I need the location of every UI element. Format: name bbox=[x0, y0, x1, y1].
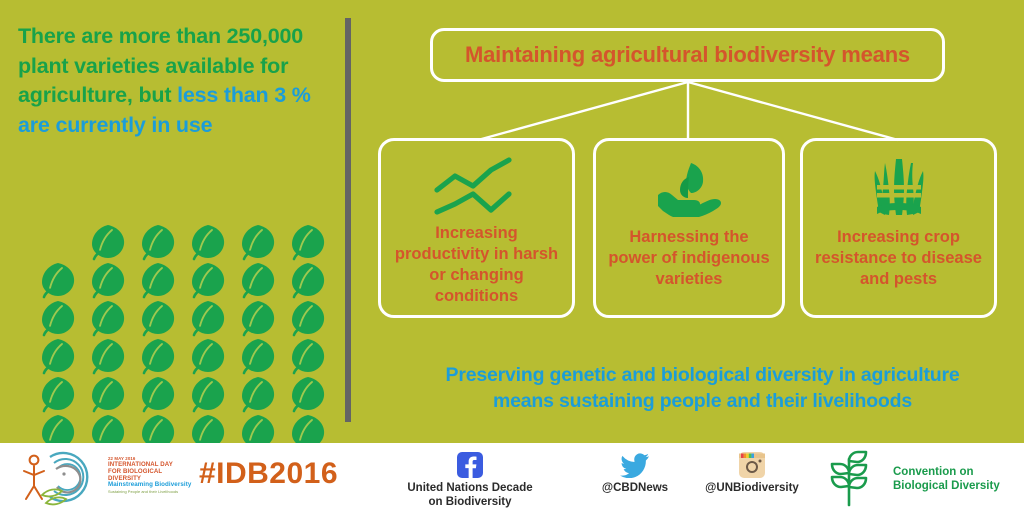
facebook-label: United Nations Decade on Biodiversity bbox=[407, 481, 532, 509]
leaf-icon bbox=[288, 260, 328, 300]
leaf-icon bbox=[138, 336, 178, 376]
leaf-icon bbox=[188, 336, 228, 376]
twitter-handle: @CBDNews bbox=[602, 481, 668, 495]
cbd-logo: Convention on Biological Diversity bbox=[815, 449, 1015, 507]
leaf-icon bbox=[288, 374, 328, 414]
instagram-label: @UNBiodiversity bbox=[705, 481, 799, 495]
leaf-icon bbox=[188, 374, 228, 414]
idb-emblem-icon bbox=[16, 447, 108, 509]
vertical-divider bbox=[345, 18, 351, 422]
idb-line-2: FOR BIOLOGICAL DIVERSITY bbox=[108, 469, 192, 483]
idb-line-3: Mainstreaming Biodiversity bbox=[108, 482, 192, 489]
leaf-icon bbox=[88, 260, 128, 300]
facebook-icon bbox=[457, 452, 483, 478]
hand-holding-seedling-icon bbox=[650, 155, 728, 217]
wheat-sheaf-icon bbox=[863, 155, 935, 217]
footer: 22 MAY 2016 INTERNATIONAL DAY FOR BIOLOG… bbox=[0, 443, 1024, 512]
leaf-icon bbox=[88, 298, 128, 338]
main-panel: There are more than 250,000 plant variet… bbox=[0, 0, 1024, 443]
cbd-line-1: Convention on bbox=[893, 465, 1000, 479]
leaf-icon bbox=[188, 298, 228, 338]
social-facebook[interactable]: United Nations Decade on Biodiversity bbox=[370, 452, 570, 509]
leaf-icon bbox=[238, 260, 278, 300]
instagram-handle: @UNBiodiversity bbox=[705, 481, 799, 495]
connector-lines bbox=[370, 80, 1020, 142]
idb-logo: 22 MAY 2016 INTERNATIONAL DAY FOR BIOLOG… bbox=[16, 447, 191, 509]
leaf-icon bbox=[38, 336, 78, 376]
card-indigenous-varieties[interactable]: Harnessing the power of indigenous varie… bbox=[593, 138, 785, 318]
leaf-icon bbox=[138, 374, 178, 414]
leaf-icon bbox=[38, 374, 78, 414]
headline: There are more than 250,000 plant variet… bbox=[18, 22, 338, 141]
twitter-label: @CBDNews bbox=[602, 481, 668, 495]
cbd-line-2: Biological Diversity bbox=[893, 479, 1000, 493]
leaf-icon bbox=[138, 222, 178, 262]
hashtag-idb2016: #IDB2016 bbox=[186, 457, 351, 491]
twitter-icon bbox=[620, 452, 650, 478]
leaf-icon bbox=[38, 298, 78, 338]
leaf-icon bbox=[238, 298, 278, 338]
leaf-icon bbox=[288, 298, 328, 338]
leaf-icon bbox=[88, 336, 128, 376]
leaf-icon bbox=[88, 374, 128, 414]
leaf-icon bbox=[38, 260, 78, 300]
tagline-line-2: means sustaining people and their liveli… bbox=[390, 388, 1015, 414]
leaf-icon bbox=[288, 222, 328, 262]
instagram-icon bbox=[739, 452, 765, 478]
facebook-label-line-2: on Biodiversity bbox=[407, 495, 532, 509]
leaf-icon bbox=[88, 222, 128, 262]
infographic-canvas: There are more than 250,000 plant variet… bbox=[0, 0, 1024, 512]
idb-line-4: Sustaining People and their Livelihoods bbox=[108, 490, 192, 494]
leaf-icon bbox=[138, 298, 178, 338]
leaf-icon bbox=[288, 336, 328, 376]
facebook-label-line-1: United Nations Decade bbox=[407, 481, 532, 495]
card-crop-resistance[interactable]: Increasing crop resistance to disease an… bbox=[800, 138, 997, 318]
leaf-icon bbox=[138, 260, 178, 300]
header-box-title: Maintaining agricultural biodiversity me… bbox=[465, 42, 910, 68]
leaf-icon bbox=[238, 374, 278, 414]
leaf-icon bbox=[238, 222, 278, 262]
line-chart-rising-icon bbox=[429, 155, 525, 217]
card-3-text: Increasing crop resistance to disease an… bbox=[803, 227, 994, 290]
card-increasing-productivity[interactable]: Increasing productivity in harsh or chan… bbox=[378, 138, 575, 318]
tagline-line-1: Preserving genetic and biological divers… bbox=[390, 362, 1015, 388]
leaf-icon bbox=[238, 336, 278, 376]
tagline: Preserving genetic and biological divers… bbox=[390, 362, 1015, 415]
leaf-grid bbox=[38, 222, 338, 447]
cbd-logo-text: Convention on Biological Diversity bbox=[893, 465, 1000, 494]
header-box: Maintaining agricultural biodiversity me… bbox=[430, 28, 945, 82]
social-instagram[interactable]: @UNBiodiversity bbox=[672, 452, 832, 495]
cbd-plant-icon bbox=[815, 449, 889, 507]
leaf-icon bbox=[188, 222, 228, 262]
leaf-icon bbox=[188, 260, 228, 300]
card-1-text: Increasing productivity in harsh or chan… bbox=[381, 223, 572, 307]
card-2-text: Harnessing the power of indigenous varie… bbox=[596, 227, 782, 290]
